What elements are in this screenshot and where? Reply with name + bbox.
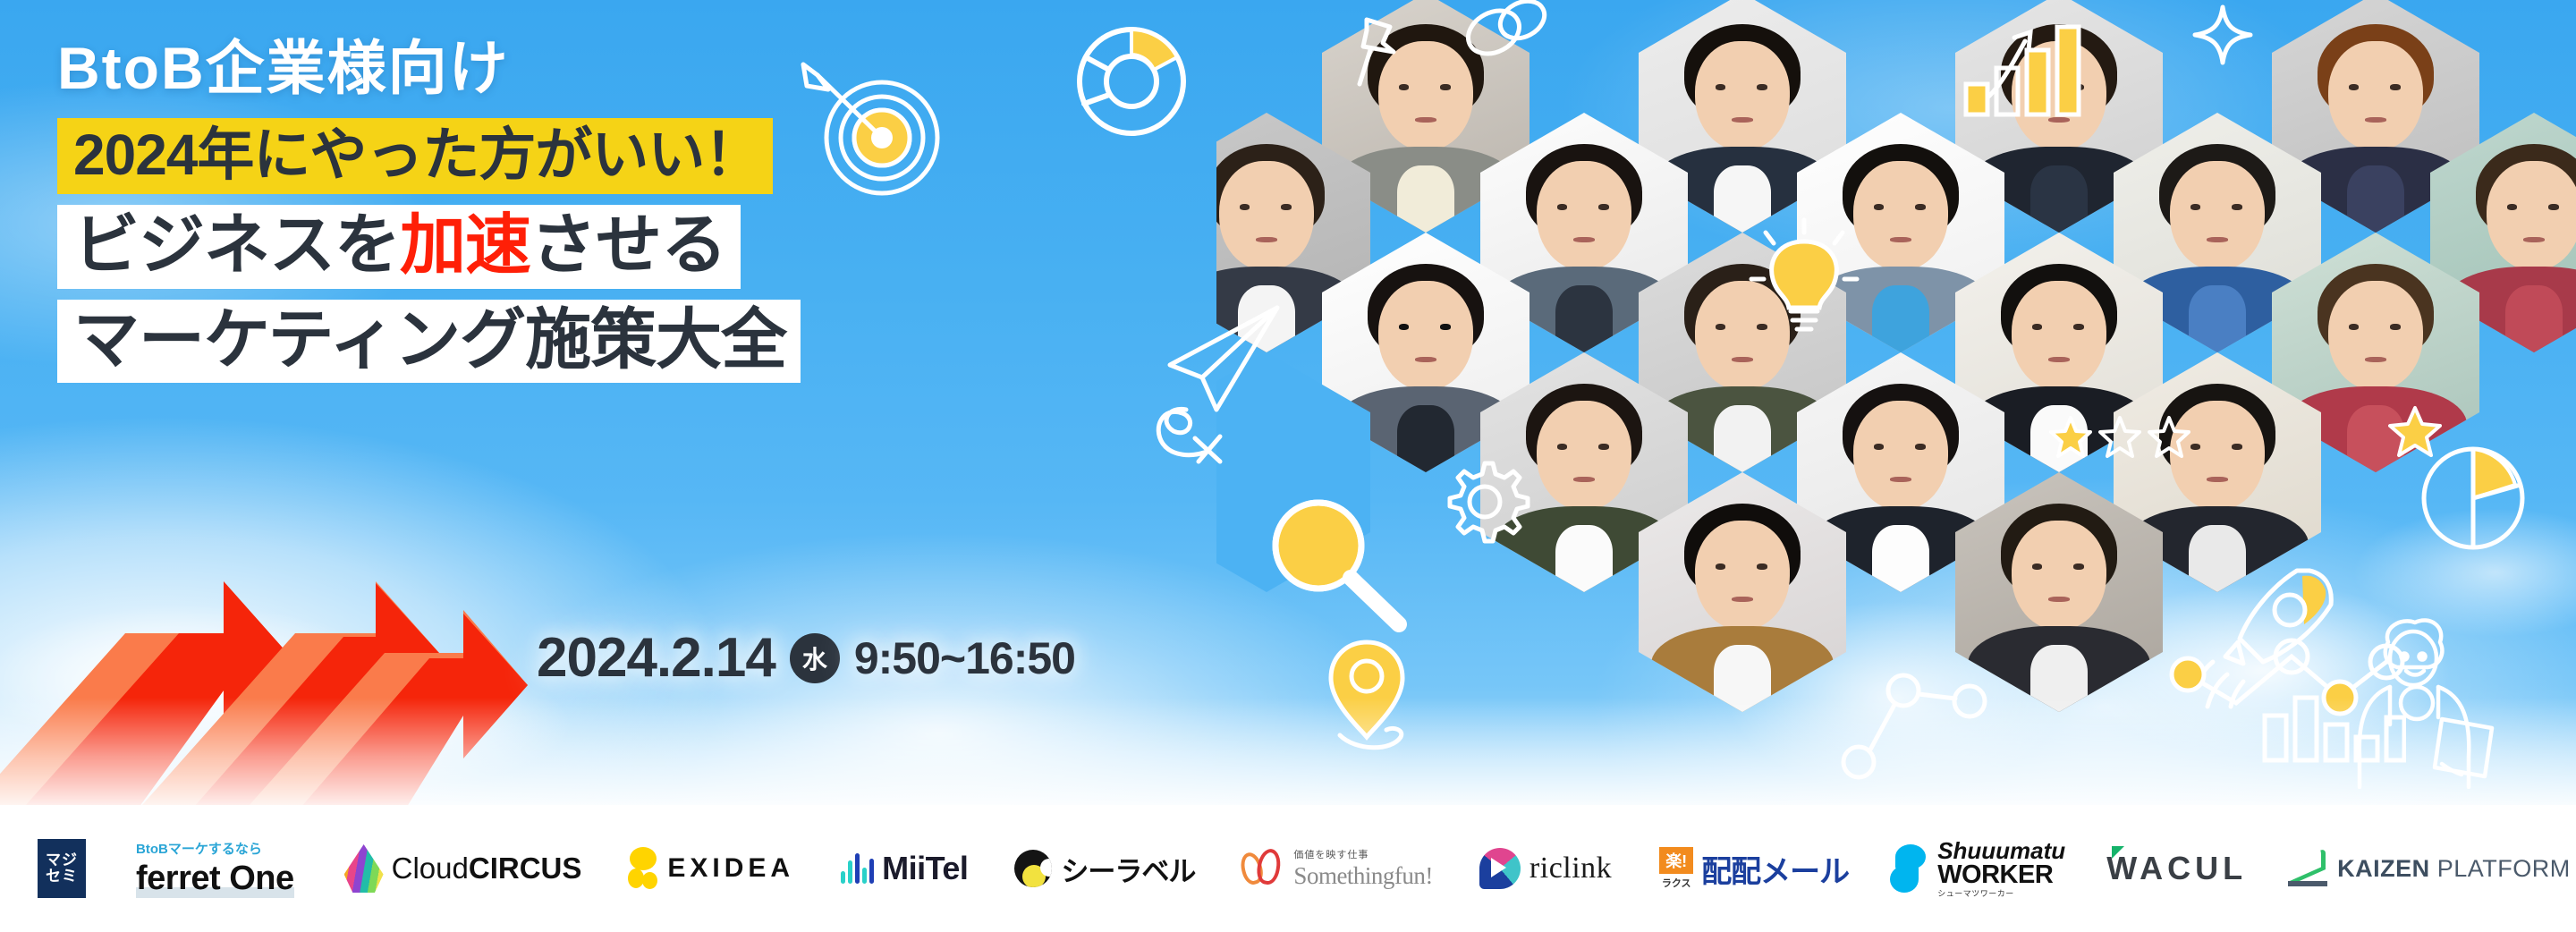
logo-exidea[interactable]: EXIDEA bbox=[628, 837, 794, 900]
line-chart-icon bbox=[2165, 610, 2406, 771]
logo-ferret-one-name: ferret One bbox=[136, 860, 294, 898]
pie-chart-icon bbox=[2415, 440, 2531, 556]
riclink-mark-icon bbox=[1479, 848, 1521, 889]
logo-shuuumatu-line1: Shuuumatu bbox=[1937, 839, 2065, 862]
kaizen-arrow-icon bbox=[2288, 851, 2329, 886]
logo-cloudcircus[interactable]: Cloud CIRCUS bbox=[344, 837, 582, 900]
rakus-badge-icon: 楽! ラクス bbox=[1658, 847, 1694, 890]
logo-majisemi[interactable]: マジ セミ bbox=[38, 837, 86, 900]
speaker-hexagon-grid bbox=[1216, 0, 2576, 789]
title-line-2: 2024年にやった方がいい！ bbox=[57, 118, 773, 194]
logo-shuuumatu-worker[interactable]: Shuuumatu WORKER シューマツワーカー bbox=[1890, 837, 2065, 900]
somethingfun-mark-icon bbox=[1241, 847, 1286, 890]
title-line-1: BtoB企業様向け bbox=[57, 34, 844, 104]
logo-riclink-name: riclink bbox=[1529, 852, 1612, 885]
logo-somethingfun[interactable]: 価値を映す仕事 Somethingfun! bbox=[1241, 837, 1433, 900]
rakus-badge-label: 楽! bbox=[1659, 847, 1693, 874]
logo-cloudcircus-circus: CIRCUS bbox=[469, 852, 582, 885]
logo-c-label-name: シーラベル bbox=[1061, 849, 1195, 889]
title-line-3: ビジネスを加速させる bbox=[57, 205, 741, 289]
event-date: 2024.2.14 bbox=[537, 626, 775, 690]
logo-shuuumatu-line3: シューマツワーカー bbox=[1937, 890, 2014, 898]
logo-c-label[interactable]: シーラベル bbox=[1014, 837, 1195, 900]
logo-majisemi-line2: セミ bbox=[46, 868, 78, 885]
title-line-3-pre: ビジネスを bbox=[73, 208, 400, 282]
logo-kaizen-light: PLATFORM bbox=[2437, 855, 2571, 882]
hero-banner: BtoB企業様向け 2024年にやった方がいい！ ビジネスを加速させる マーケテ… bbox=[0, 0, 2576, 805]
title-line-3-post: させる bbox=[530, 208, 726, 282]
logo-somethingfun-tagline: 価値を映す仕事 bbox=[1293, 847, 1368, 861]
title-line-3-accent: 加速 bbox=[400, 208, 530, 282]
event-datetime: 2024.2.14 水 9:50~16:50 bbox=[537, 626, 1075, 690]
logo-cloudcircus-cloud: Cloud bbox=[392, 852, 469, 885]
rakus-badge-sub: ラクス bbox=[1662, 876, 1691, 890]
miitel-waveform-icon bbox=[841, 853, 874, 884]
donut-chart-icon bbox=[1064, 14, 1199, 148]
logo-exidea-name: EXIDEA bbox=[667, 853, 794, 884]
logo-ferret-one-tagline: BtoBマーケするなら bbox=[136, 839, 262, 858]
network-nodes-icon bbox=[1834, 653, 2004, 787]
event-day-of-week: 水 bbox=[790, 633, 840, 683]
title-block: BtoB企業様向け 2024年にやった方がいい！ ビジネスを加速させる マーケテ… bbox=[57, 34, 844, 383]
title-line-4: マーケティング施策大全 bbox=[57, 300, 801, 384]
sparkle-icon bbox=[2191, 4, 2254, 66]
logo-wacul[interactable]: WACUL bbox=[2106, 837, 2247, 900]
logo-riclink[interactable]: riclink bbox=[1479, 837, 1612, 900]
person-presenter-icon bbox=[2334, 610, 2513, 789]
red-growth-arrows bbox=[0, 555, 555, 805]
exidea-mark-icon bbox=[628, 847, 658, 890]
event-time: 9:50~16:50 bbox=[854, 632, 1075, 684]
logo-majisemi-line1: マジ bbox=[46, 852, 78, 868]
shuuumatu-mark-icon bbox=[1890, 844, 1929, 893]
cloudcircus-drop-icon bbox=[344, 844, 384, 893]
logo-haihai-mail-name: 配配メール bbox=[1701, 847, 1849, 891]
logo-miitel-name: MiiTel bbox=[882, 850, 968, 887]
logo-kaizen-platform[interactable]: KAIZEN PLATFORM bbox=[2288, 837, 2571, 900]
logo-ferret-one[interactable]: BtoBマーケするなら ferret One bbox=[136, 837, 294, 900]
logo-somethingfun-name: Somethingfun! bbox=[1293, 862, 1433, 890]
logo-shuuumatu-line2: WORKER bbox=[1937, 862, 2053, 888]
logo-kaizen-bold: KAIZEN bbox=[2337, 855, 2430, 882]
c-label-mark-icon bbox=[1014, 850, 1052, 887]
logo-haihai-mail[interactable]: 楽! ラクス 配配メール bbox=[1658, 837, 1849, 900]
logo-wacul-name: WACUL bbox=[2106, 850, 2247, 887]
logo-miitel[interactable]: MiiTel bbox=[841, 837, 968, 900]
sponsor-logo-bar: マジ セミ BtoBマーケするなら ferret One Cloud CIRCU… bbox=[0, 805, 2576, 932]
